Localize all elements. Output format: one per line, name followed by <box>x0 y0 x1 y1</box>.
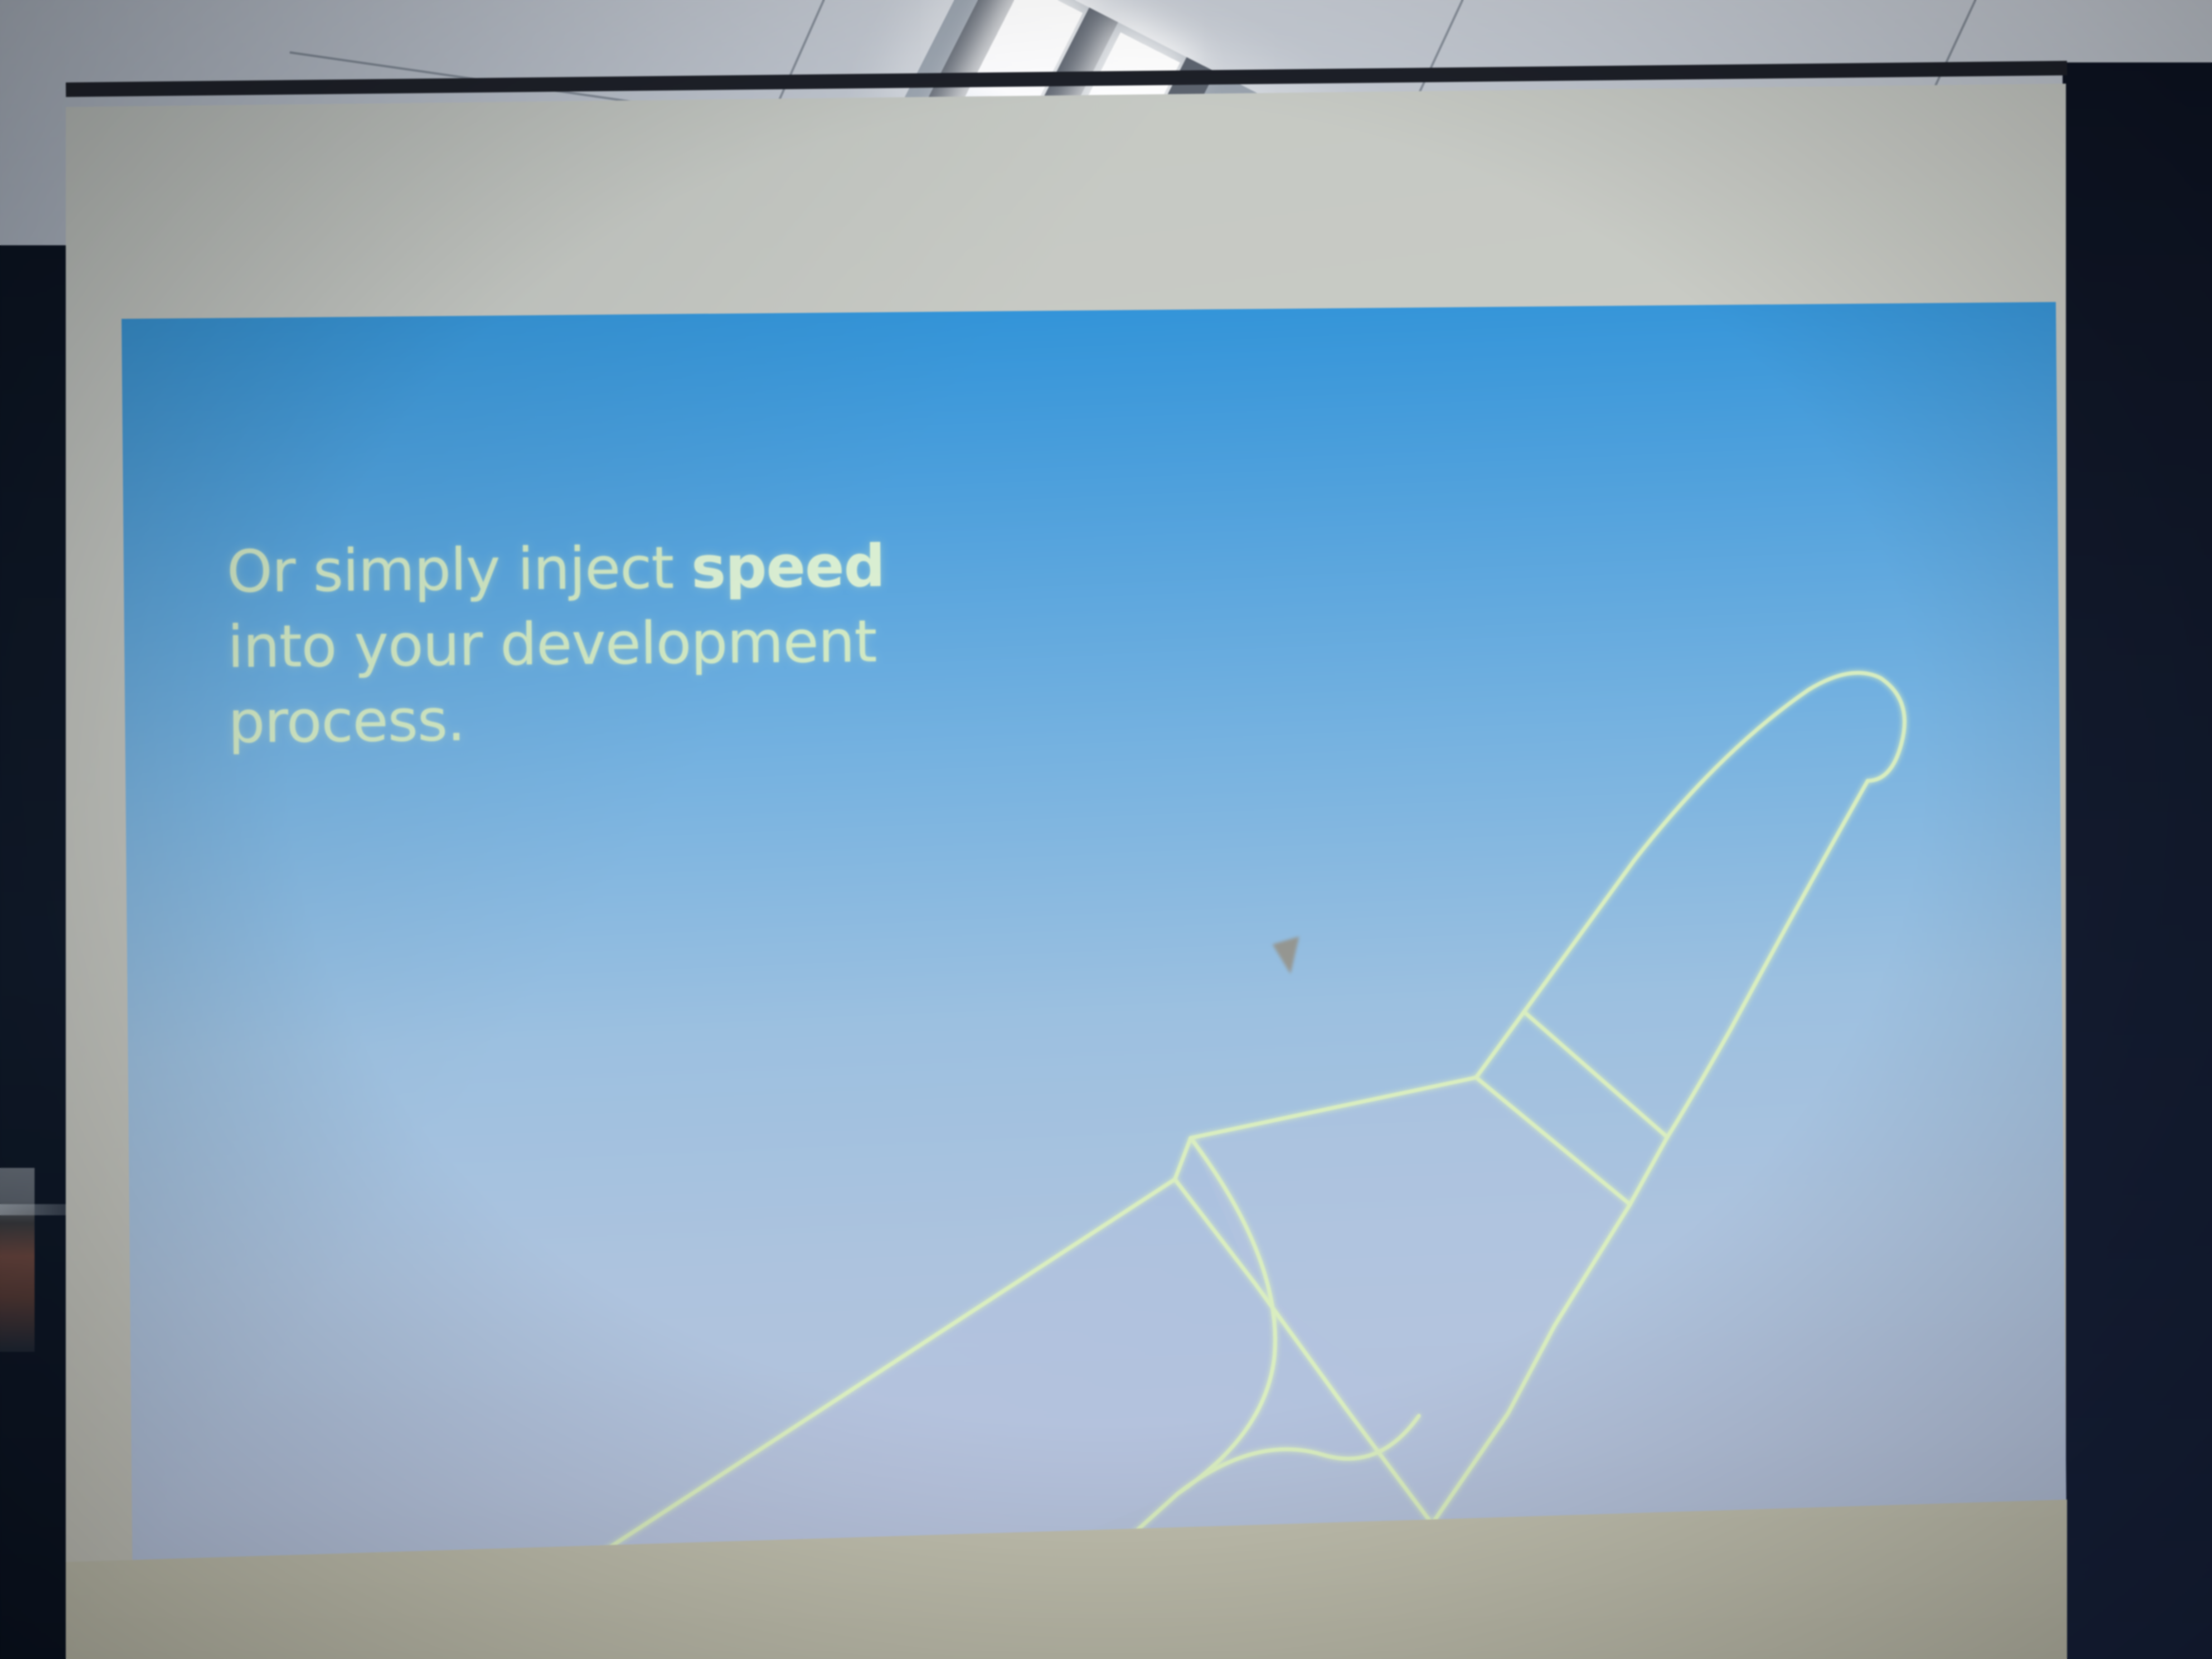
rocket-body-right <box>1629 1137 1668 1205</box>
rocket-nose-right-edge <box>1664 781 1871 1137</box>
rocket-band-upper <box>1524 1011 1667 1138</box>
headline-line-1-prefix: Or simply inject <box>226 533 691 605</box>
projected-slide: Or simply inject speed into your develop… <box>122 302 2067 1572</box>
screenshot-root: Or simply inject speed into your develop… <box>0 0 2212 1659</box>
rocket-illustration <box>122 302 2067 1572</box>
rocket-body-left <box>1476 1012 1525 1078</box>
left-wall <box>0 245 74 1659</box>
headline-line-3: process. <box>228 686 465 756</box>
rocket-nose-tip <box>1867 678 1905 781</box>
headline-line-2: into your development <box>227 607 877 681</box>
left-wall-object <box>0 1168 35 1352</box>
headline-emphasis-speed: speed <box>691 532 885 601</box>
slide-headline: Or simply inject speed into your develop… <box>226 527 1064 760</box>
right-wall <box>2063 62 2212 1659</box>
rocket-nose-left-edge <box>1521 673 1884 1012</box>
